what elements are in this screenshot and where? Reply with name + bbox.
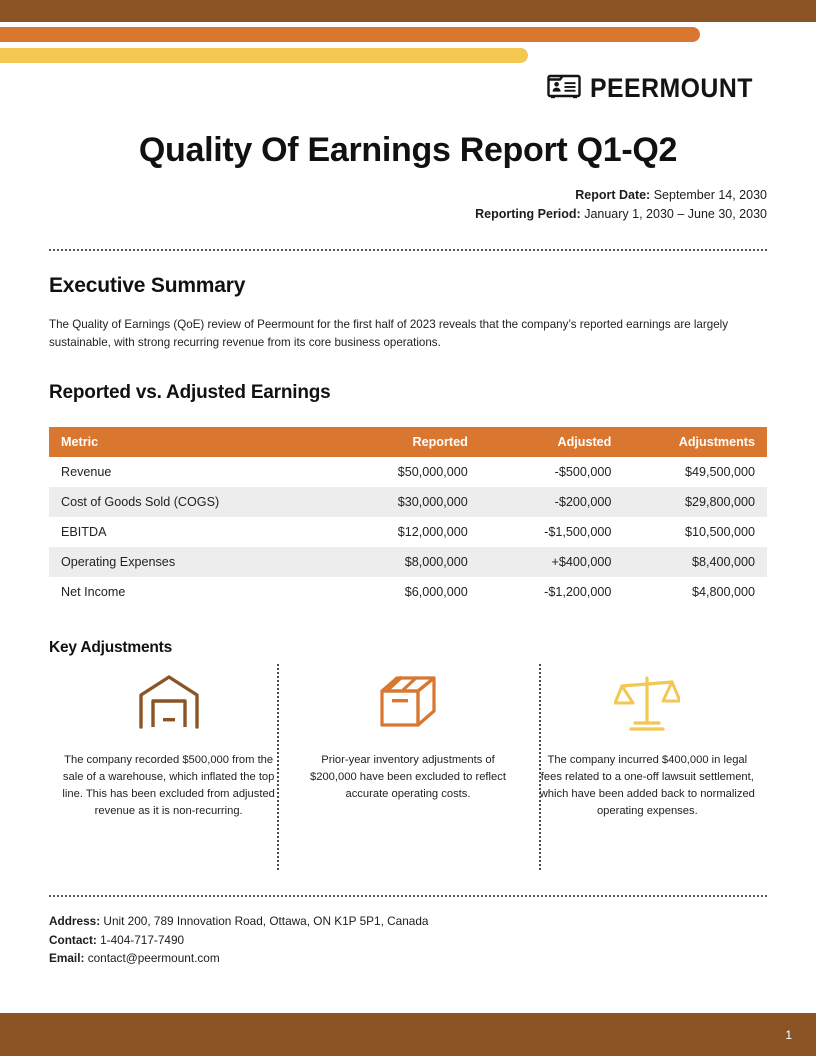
page-title: Quality Of Earnings Report Q1-Q2 bbox=[49, 132, 767, 169]
executive-summary-heading: Executive Summary bbox=[49, 274, 245, 298]
key-adjustment-item-inventory: Prior-year inventory adjustments of $200… bbox=[288, 664, 527, 870]
reporting-period-value: January 1, 2030 – June 30, 2030 bbox=[584, 207, 767, 221]
cell-adjustments: $29,800,000 bbox=[623, 487, 767, 517]
cell-metric: Net Income bbox=[49, 577, 336, 607]
cell-reported: $12,000,000 bbox=[336, 517, 480, 547]
warehouse-icon bbox=[137, 664, 201, 740]
key-adjustments-heading: Key Adjustments bbox=[49, 639, 172, 657]
table-row: EBITDA $12,000,000 -$1,500,000 $10,500,0… bbox=[49, 517, 767, 547]
report-date-line: Report Date: September 14, 2030 bbox=[475, 186, 767, 205]
cell-adjustments: $49,500,000 bbox=[623, 457, 767, 487]
table-row: Operating Expenses $8,000,000 +$400,000 … bbox=[49, 547, 767, 577]
report-date-value: September 14, 2030 bbox=[654, 188, 767, 202]
cell-metric: EBITDA bbox=[49, 517, 336, 547]
address-label: Address: bbox=[49, 914, 100, 928]
reporting-period-label: Reporting Period: bbox=[475, 207, 581, 221]
key-adjustment-item-warehouse: The company recorded $500,000 from the s… bbox=[49, 664, 288, 870]
page-number: 1 bbox=[785, 1028, 792, 1042]
cell-metric: Cost of Goods Sold (COGS) bbox=[49, 487, 336, 517]
report-meta: Report Date: September 14, 2030 Reportin… bbox=[475, 186, 767, 225]
cell-adjusted: -$500,000 bbox=[480, 457, 624, 487]
document-page: Quality Of Earnings Report Q1-Q2 Report … bbox=[0, 0, 816, 1056]
report-date-label: Report Date: bbox=[575, 188, 650, 202]
earnings-table-heading: Reported vs. Adjusted Earnings bbox=[49, 382, 331, 404]
divider-top bbox=[49, 249, 767, 251]
column-header-adjusted: Adjusted bbox=[480, 427, 624, 457]
email-label: Email: bbox=[49, 951, 84, 965]
divider-bottom bbox=[49, 895, 767, 897]
address-value: Unit 200, 789 Innovation Road, Ottawa, O… bbox=[103, 914, 428, 928]
cell-adjusted: +$400,000 bbox=[480, 547, 624, 577]
key-adjustment-text: Prior-year inventory adjustments of $200… bbox=[300, 752, 515, 803]
column-header-metric: Metric bbox=[49, 427, 336, 457]
executive-summary-body: The Quality of Earnings (QoE) review of … bbox=[49, 316, 749, 351]
cell-reported: $30,000,000 bbox=[336, 487, 480, 517]
address-line: Address: Unit 200, 789 Innovation Road, … bbox=[49, 912, 428, 931]
contact-block: Address: Unit 200, 789 Innovation Road, … bbox=[49, 912, 428, 968]
earnings-table-head: Metric Reported Adjusted Adjustments bbox=[49, 427, 767, 457]
cell-reported: $8,000,000 bbox=[336, 547, 480, 577]
table-row: Revenue $50,000,000 -$500,000 $49,500,00… bbox=[49, 457, 767, 487]
cell-metric: Revenue bbox=[49, 457, 336, 487]
box-icon bbox=[377, 664, 439, 740]
phone-line: Contact: 1-404-717-7490 bbox=[49, 931, 428, 950]
column-header-reported: Reported bbox=[336, 427, 480, 457]
cell-adjustments: $8,400,000 bbox=[623, 547, 767, 577]
column-header-adjustments: Adjustments bbox=[623, 427, 767, 457]
scales-icon bbox=[614, 664, 680, 740]
email-value: contact@peermount.com bbox=[88, 951, 220, 965]
cell-adjusted: -$1,500,000 bbox=[480, 517, 624, 547]
cell-adjusted: -$1,200,000 bbox=[480, 577, 624, 607]
cell-adjustments: $10,500,000 bbox=[623, 517, 767, 547]
cell-metric: Operating Expenses bbox=[49, 547, 336, 577]
contact-value: 1-404-717-7490 bbox=[100, 933, 184, 947]
earnings-table-body: Revenue $50,000,000 -$500,000 $49,500,00… bbox=[49, 457, 767, 607]
table-row: Net Income $6,000,000 -$1,200,000 $4,800… bbox=[49, 577, 767, 607]
table-row: Cost of Goods Sold (COGS) $30,000,000 -$… bbox=[49, 487, 767, 517]
cell-reported: $50,000,000 bbox=[336, 457, 480, 487]
cell-adjusted: -$200,000 bbox=[480, 487, 624, 517]
key-adjustments-grid: The company recorded $500,000 from the s… bbox=[49, 664, 767, 870]
key-adjustment-item-legal: The company incurred $400,000 in legal f… bbox=[528, 664, 767, 870]
cell-reported: $6,000,000 bbox=[336, 577, 480, 607]
earnings-table: Metric Reported Adjusted Adjustments Rev… bbox=[49, 427, 767, 607]
contact-label: Contact: bbox=[49, 933, 97, 947]
reporting-period-line: Reporting Period: January 1, 2030 – June… bbox=[475, 205, 767, 224]
footer-bar: 1 bbox=[0, 1013, 816, 1056]
cell-adjustments: $4,800,000 bbox=[623, 577, 767, 607]
key-adjustment-text: The company recorded $500,000 from the s… bbox=[61, 752, 276, 820]
key-adjustment-text: The company incurred $400,000 in legal f… bbox=[540, 752, 755, 820]
email-line: Email: contact@peermount.com bbox=[49, 949, 428, 968]
table-header-row: Metric Reported Adjusted Adjustments bbox=[49, 427, 767, 457]
